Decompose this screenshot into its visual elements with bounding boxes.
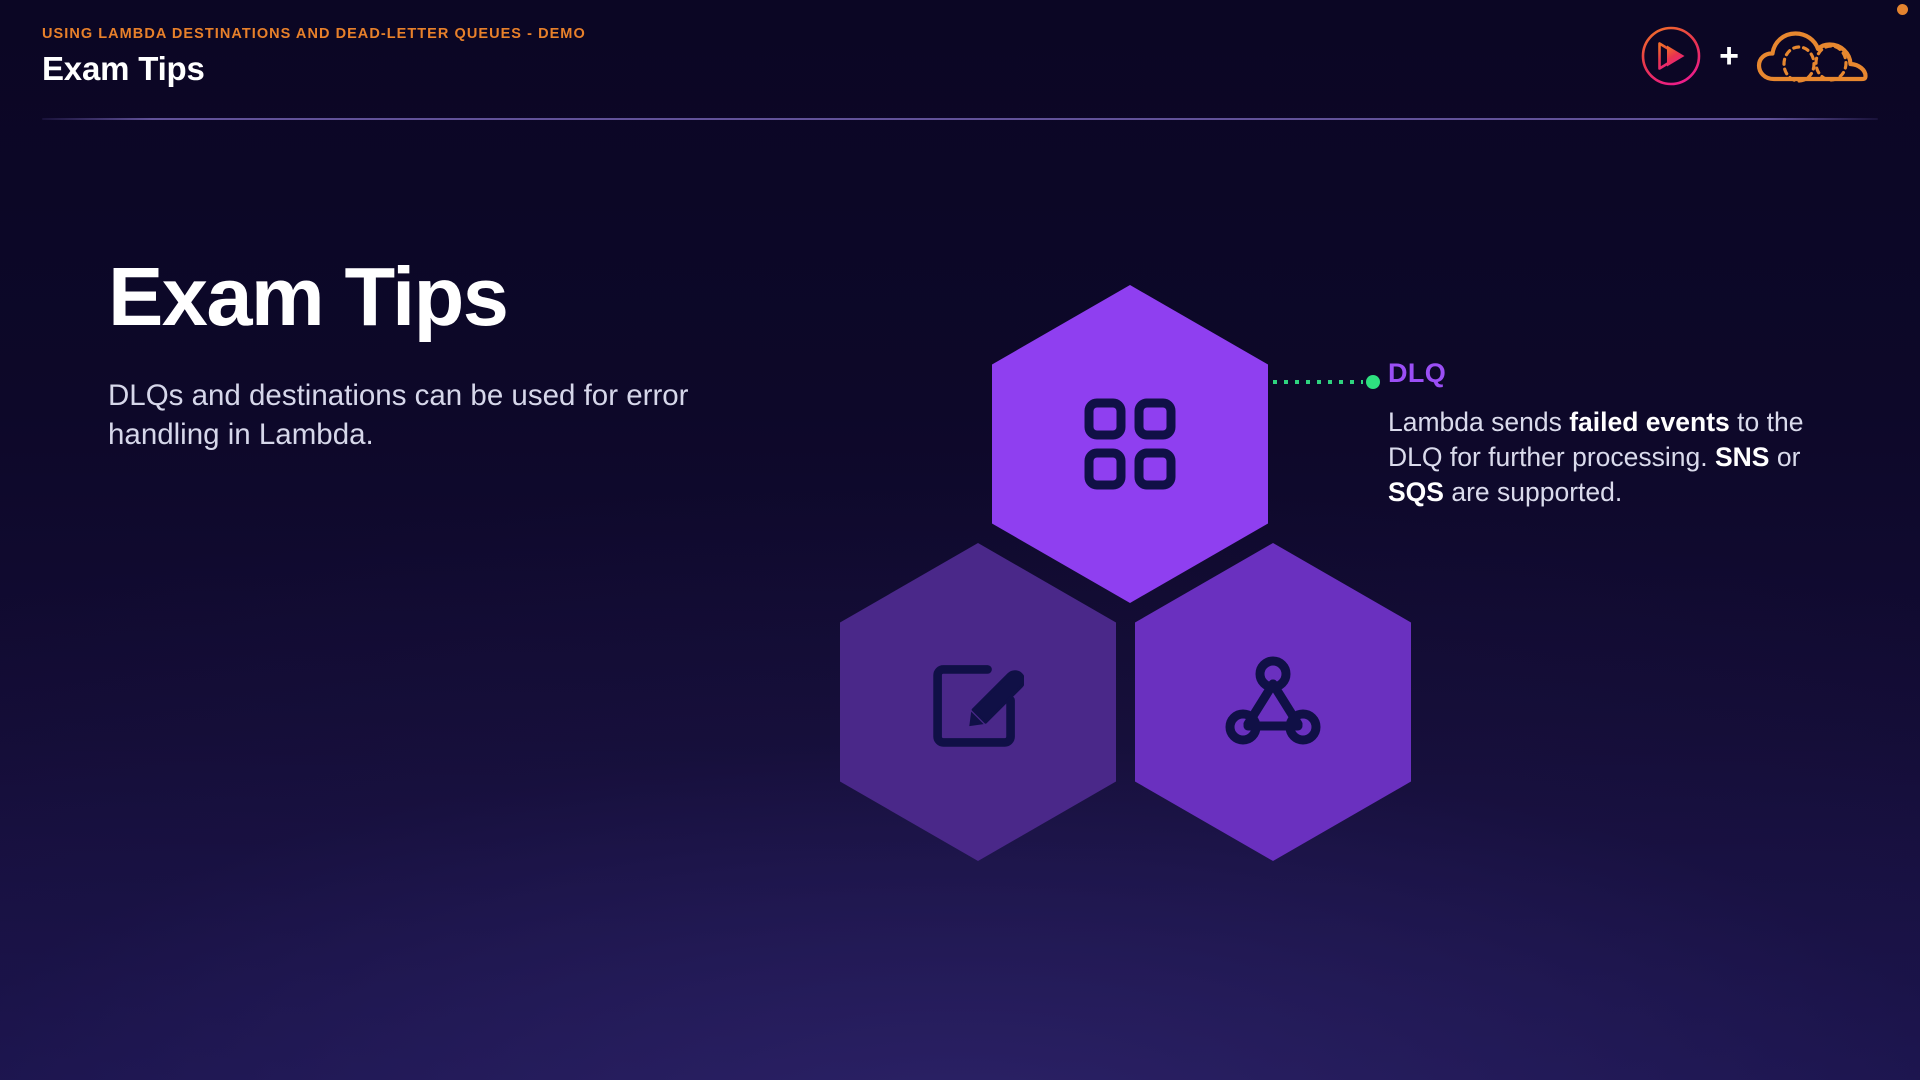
slide-header: USING LAMBDA DESTINATIONS AND DEAD-LETTE… xyxy=(0,0,1920,126)
callout-emphasis: SNS xyxy=(1715,442,1770,472)
page-title: Exam Tips xyxy=(108,255,728,338)
connector-node-dot xyxy=(1366,375,1380,389)
callout-emphasis: failed events xyxy=(1569,407,1730,437)
course-eyebrow: USING LAMBDA DESTINATIONS AND DEAD-LETTE… xyxy=(42,26,586,42)
slide-canvas: USING LAMBDA DESTINATIONS AND DEAD-LETTE… xyxy=(0,0,1920,1080)
callout-label: DLQ xyxy=(1388,360,1808,387)
callout-emphasis: SQS xyxy=(1388,477,1444,507)
page-subtitle: DLQs and destinations can be used for er… xyxy=(108,376,708,454)
left-content-column: Exam Tips DLQs and destinations can be u… xyxy=(108,255,728,454)
header-title: Exam Tips xyxy=(42,50,205,88)
network-nodes-icon xyxy=(1223,652,1323,752)
connector-dots xyxy=(1273,380,1363,384)
hexagon-tile-edit[interactable] xyxy=(840,543,1116,861)
hexagon-tile-network[interactable] xyxy=(1135,543,1411,861)
header-divider xyxy=(42,118,1878,120)
orange-dot-icon xyxy=(1897,4,1908,15)
hexagon-tile-dlq[interactable] xyxy=(992,285,1268,603)
grid-apps-icon xyxy=(1080,394,1180,494)
edit-compose-icon xyxy=(930,654,1026,750)
brand-plus-symbol: + xyxy=(1719,39,1739,73)
cloud-guru-cloud-logo-icon xyxy=(1756,25,1874,92)
brand-lockup: + xyxy=(1640,20,1874,96)
dotted-connector-with-node-icon xyxy=(1273,375,1391,389)
pluralsight-play-logo-icon xyxy=(1640,25,1702,92)
dlq-callout: DLQ Lambda sends failed events to the DL… xyxy=(1388,360,1808,510)
callout-body: Lambda sends failed events to the DLQ fo… xyxy=(1388,405,1808,510)
